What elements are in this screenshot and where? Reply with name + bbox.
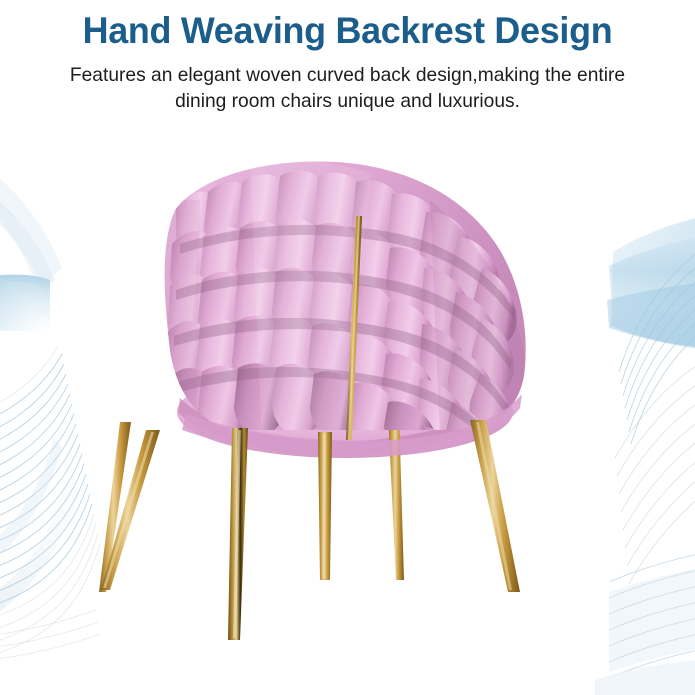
header: Hand Weaving Backrest Design Features an… [0,0,695,140]
chair-leg-rear-right-front [470,420,520,592]
product-image [0,140,695,695]
product-feature-banner: Hand Weaving Backrest Design Features an… [0,0,695,695]
page-title: Hand Weaving Backrest Design [10,0,684,54]
chair-woven-backrest [160,160,528,507]
page-subtitle: Features an elegant woven curved back de… [5,54,690,114]
chair-leg-front-center [228,428,248,640]
chair-leg-front-right [318,432,332,580]
